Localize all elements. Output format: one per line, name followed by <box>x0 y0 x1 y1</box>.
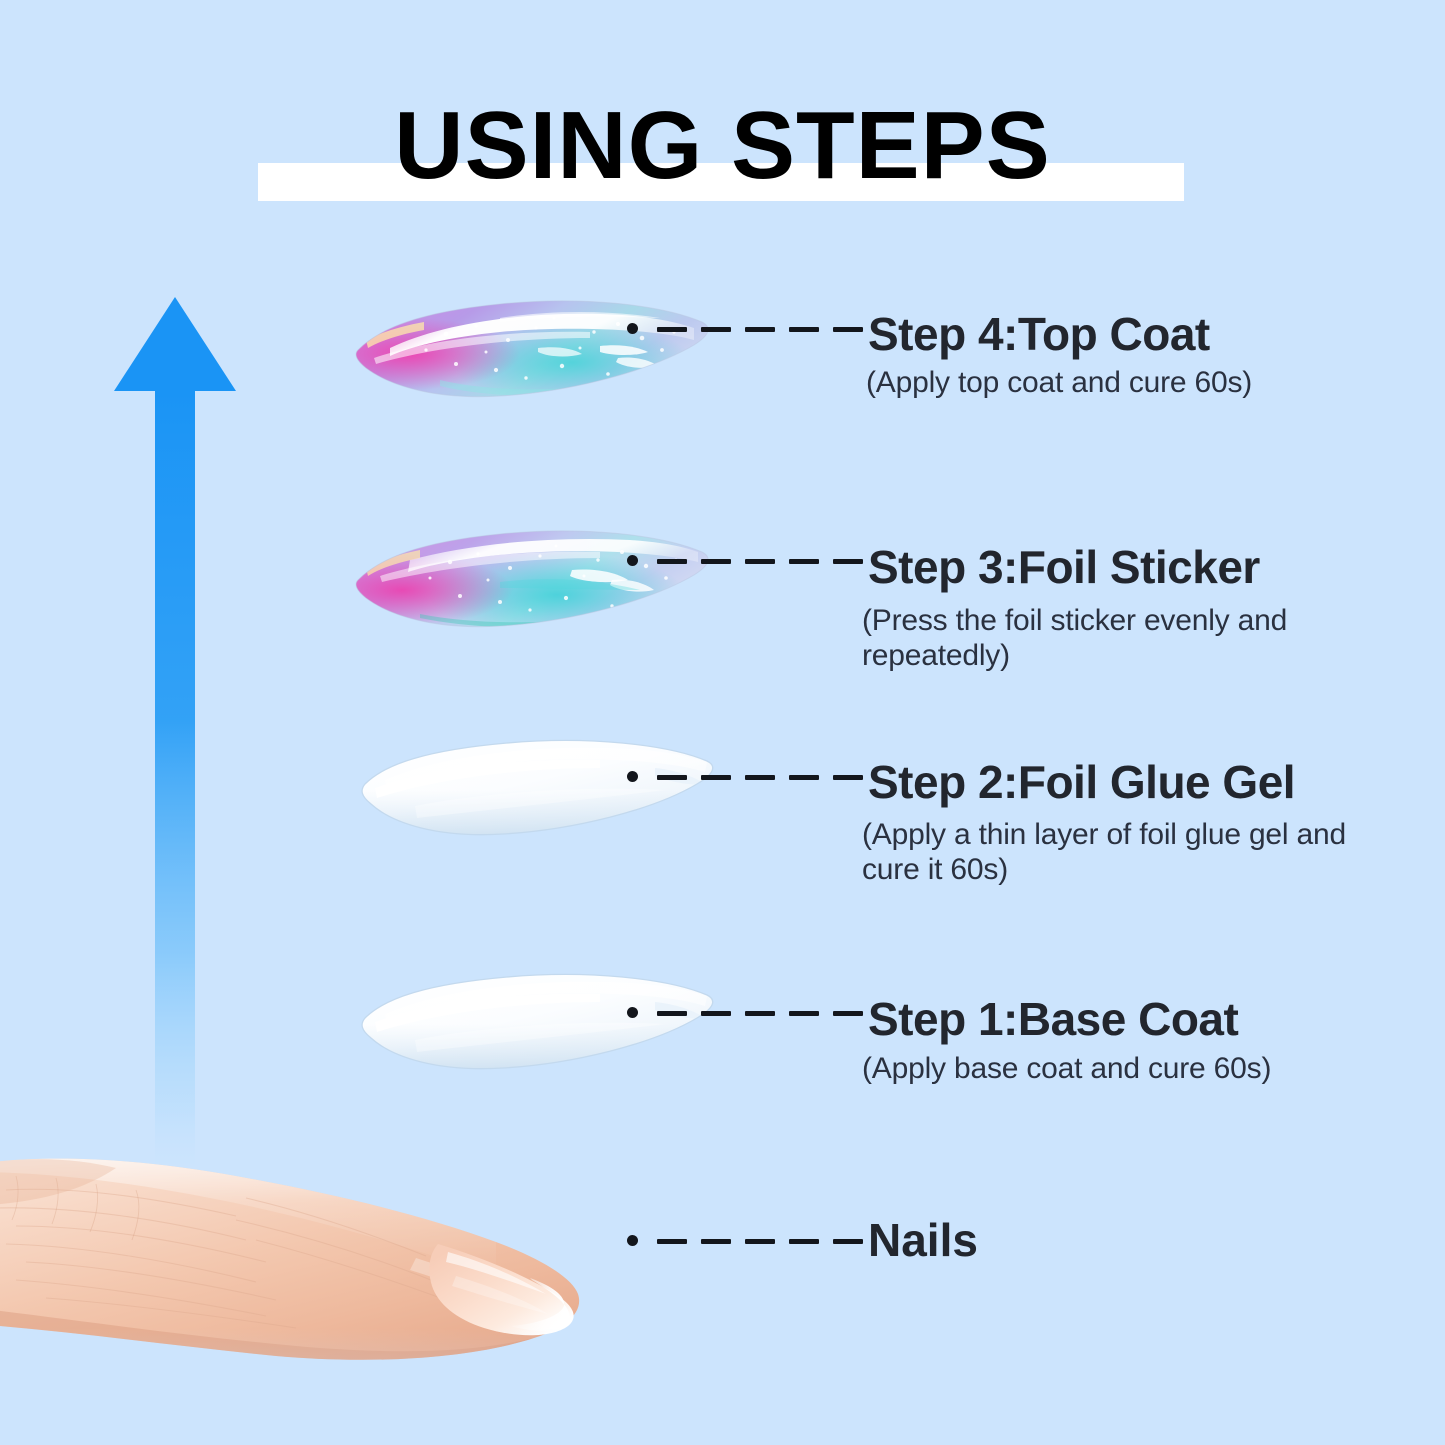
leader-line-step-2 <box>627 764 852 786</box>
leader-dash <box>789 775 819 780</box>
leader-dash <box>789 1239 819 1244</box>
leader-dash <box>745 775 775 780</box>
leader-dash <box>657 775 687 780</box>
leader-line-step-3 <box>627 548 852 570</box>
finger-image <box>0 1128 666 1428</box>
nail-image-step-1 <box>355 962 725 1082</box>
step-title-step-1: Step 1:Base Coat <box>868 992 1238 1046</box>
leader-dash <box>745 1011 775 1016</box>
nail-image-step-3 <box>350 518 720 638</box>
leader-dot <box>627 771 638 782</box>
step-description-step-4: (Apply top coat and cure 60s) <box>866 366 1386 401</box>
nail-image-step-2 <box>355 728 725 848</box>
step-title-step-4: Step 4:Top Coat <box>868 307 1210 361</box>
leader-dash <box>701 327 731 332</box>
page-title: USING STEPS <box>0 96 1445 197</box>
leader-dash <box>789 327 819 332</box>
leader-dot <box>627 323 638 334</box>
leader-dash <box>701 559 731 564</box>
leader-dash <box>657 1239 687 1244</box>
leader-dash <box>833 1239 863 1244</box>
leader-dash <box>833 775 863 780</box>
leader-dash <box>745 559 775 564</box>
nail-image-step-4 <box>350 288 720 408</box>
leader-dash <box>657 327 687 332</box>
upward-progress-arrow <box>112 295 238 1175</box>
leader-dash <box>745 327 775 332</box>
leader-line-nails <box>627 1228 852 1250</box>
step-title-step-2: Step 2:Foil Glue Gel <box>868 755 1295 809</box>
leader-dash <box>701 1239 731 1244</box>
leader-dash <box>701 775 731 780</box>
leader-dash <box>701 1011 731 1016</box>
leader-dash <box>833 327 863 332</box>
leader-dash <box>657 559 687 564</box>
infographic-canvas: USING STEPS <box>0 0 1445 1445</box>
leader-dot <box>627 1235 638 1246</box>
step-description-step-2: (Apply a thin layer of foil glue gel and… <box>862 818 1407 887</box>
leader-dash <box>657 1011 687 1016</box>
leader-dash <box>789 1011 819 1016</box>
step-description-step-1: (Apply base coat and cure 60s) <box>862 1052 1382 1087</box>
step-title-nails: Nails <box>868 1213 978 1267</box>
leader-dot <box>627 1007 638 1018</box>
step-description-step-3: (Press the foil sticker evenly and repea… <box>862 604 1332 673</box>
leader-dot <box>627 555 638 566</box>
leader-dash <box>833 559 863 564</box>
leader-dash <box>833 1011 863 1016</box>
leader-dash <box>789 559 819 564</box>
leader-line-step-4 <box>627 316 852 338</box>
step-title-step-3: Step 3:Foil Sticker <box>868 540 1260 594</box>
leader-dash <box>745 1239 775 1244</box>
leader-line-step-1 <box>627 1000 852 1022</box>
